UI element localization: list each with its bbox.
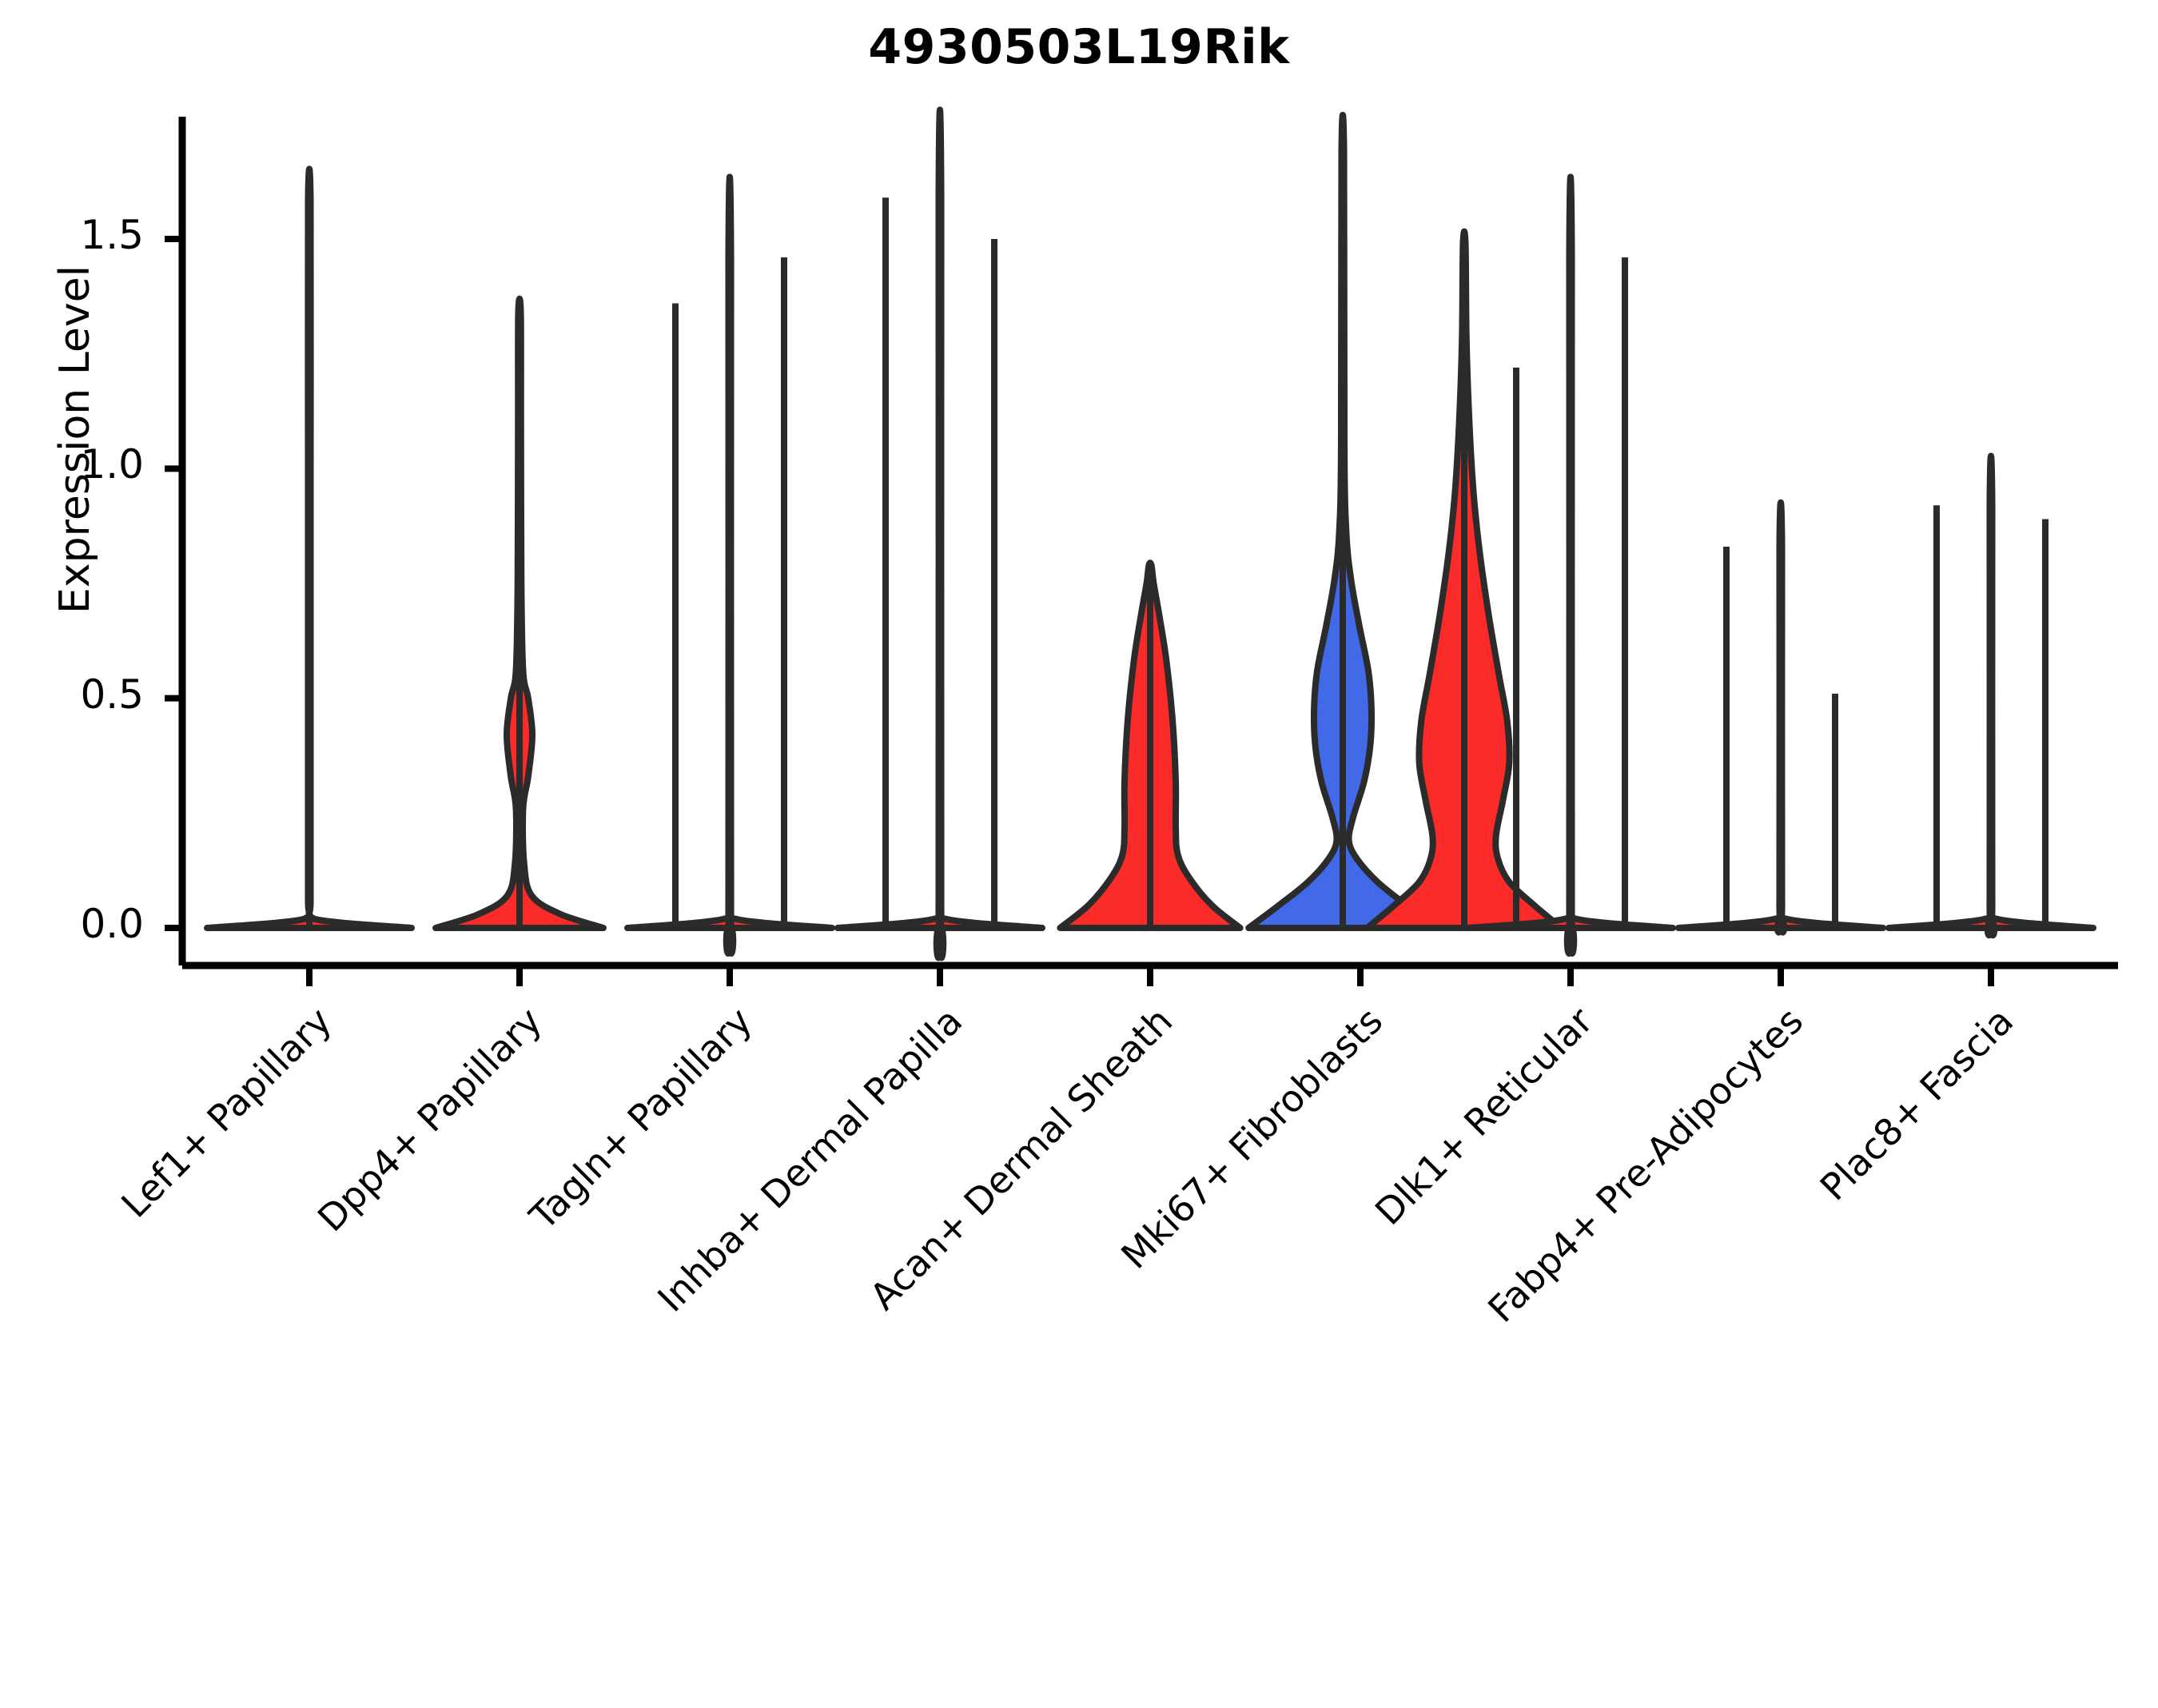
violin-body-10 [1889, 456, 2093, 936]
violin-9 [1678, 503, 1883, 933]
violin-6 [1248, 115, 1437, 928]
violin-5 [1060, 563, 1240, 928]
violin-7 [1367, 232, 1561, 928]
violin-body-3 [627, 177, 832, 953]
violin-4 [838, 109, 1042, 958]
violin-body-9 [1678, 503, 1883, 933]
violin-2 [436, 299, 603, 928]
violin-10 [1889, 456, 2093, 936]
violin-body-4 [838, 109, 1042, 958]
violin-plot-figure: 4930503L19Rik Expression Level 0.0 0.5 1… [0, 0, 2158, 1439]
violin-1 [207, 169, 412, 928]
violin-shapes [207, 109, 2093, 958]
violin-3 [627, 177, 832, 953]
